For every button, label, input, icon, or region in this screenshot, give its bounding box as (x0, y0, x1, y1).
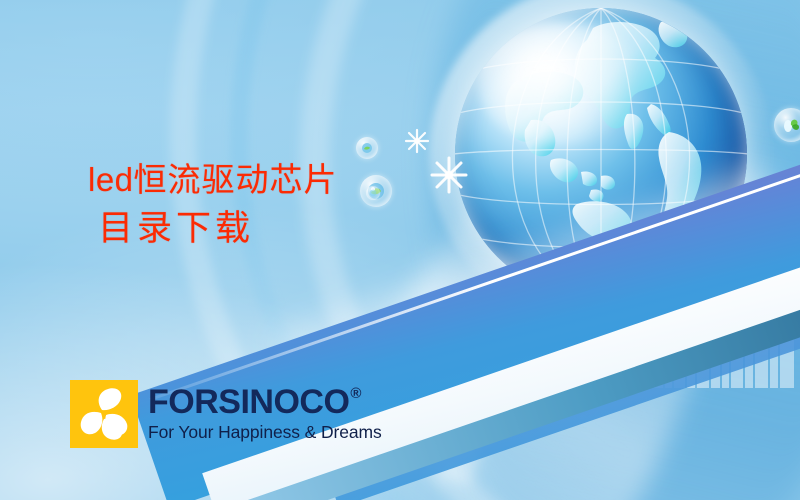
bubble-icon (356, 137, 378, 159)
headline-latin: led (88, 161, 134, 198)
four-petal-flower-icon (70, 380, 138, 448)
sparkle-icon (429, 155, 469, 195)
registered-trademark-icon: ® (350, 386, 361, 401)
bubble-icon (489, 327, 533, 371)
headline-line-2: 目录下载 (88, 212, 338, 247)
brand-logo: FORSINOCO ® For Your Happiness & Dreams (70, 380, 382, 448)
globe-sphere (455, 8, 747, 300)
globe-highlight (478, 23, 647, 146)
logo-wordmark-text: FORSINOCO (148, 385, 349, 419)
logo-text-block: FORSINOCO ® For Your Happiness & Dreams (148, 380, 382, 442)
logo-wordmark: FORSINOCO ® (148, 385, 382, 419)
logo-tagline: For Your Happiness & Dreams (148, 424, 382, 442)
promo-banner: led恒流驱动芯片 目录下载 FORSINOCO ® For Your Happ… (0, 0, 800, 500)
page-title: led恒流驱动芯片 目录下载 (88, 163, 338, 247)
headline-line-1: led恒流驱动芯片 (88, 163, 338, 196)
headline-cjk: 恒流驱动芯片 (134, 160, 338, 199)
bubble-icon (366, 186, 380, 200)
globe-icon (455, 8, 747, 300)
bubble-icon (774, 108, 800, 142)
sparkle-icon (404, 128, 430, 154)
